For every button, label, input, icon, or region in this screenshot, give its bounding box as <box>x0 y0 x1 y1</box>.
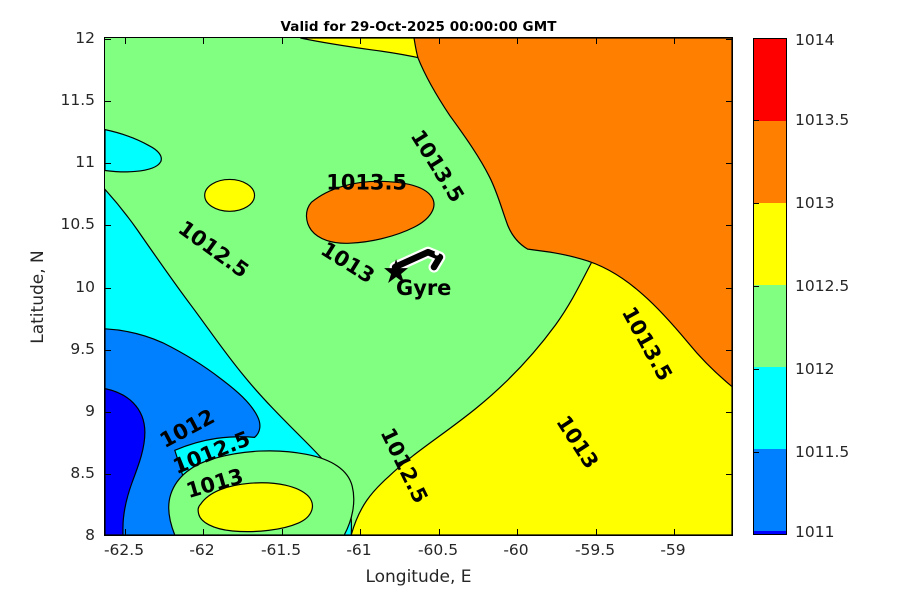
colorbar-band-1013-1013p5 <box>754 121 786 203</box>
ytick <box>105 474 111 475</box>
ytick <box>726 225 732 226</box>
xtick-label: -62 <box>189 541 214 559</box>
contour-plot-area[interactable]: 1013.5 1013.5 1013.5 1012.5 1013 1013 10… <box>104 37 733 536</box>
ytick <box>105 101 111 102</box>
ytick <box>726 163 732 164</box>
ytick-label: 11.5 <box>40 91 95 109</box>
colorbar-label: 1011 <box>795 523 834 541</box>
colorbar-tick <box>753 452 759 453</box>
ytick-label: 9 <box>40 402 95 420</box>
colorbar-label: 1012.5 <box>795 277 849 295</box>
colorbar-band-below-1011 <box>754 531 786 535</box>
ytick <box>726 288 732 289</box>
ytick <box>726 39 732 40</box>
ytick-label: 8.5 <box>40 464 95 482</box>
colorbar-label: 1011.5 <box>795 443 849 461</box>
xtick-label: -61.5 <box>261 541 301 559</box>
colorbar-band-1011-1011p5 <box>754 449 786 531</box>
xtick <box>439 529 440 535</box>
xtick-label: -59 <box>660 541 685 559</box>
xtick-label: -61 <box>346 541 371 559</box>
xtick <box>674 38 675 44</box>
ytick-label: 11 <box>40 153 95 171</box>
contour-label-1013p5-cell: 1013.5 <box>326 170 407 194</box>
colorbar-tick <box>753 120 759 121</box>
ytick <box>105 412 111 413</box>
colorbar-band-1012p5-1013 <box>754 203 786 285</box>
colorbar-band-1012-1012p5 <box>754 285 786 367</box>
ytick <box>105 163 111 164</box>
ytick <box>105 350 111 351</box>
xtick-label: -62.5 <box>104 541 144 559</box>
xtick <box>282 38 283 44</box>
colorbar-label: 1013 <box>795 194 834 212</box>
xtick <box>517 38 518 44</box>
ytick <box>726 101 732 102</box>
ytick-label: 8 <box>40 526 95 544</box>
ytick-label: 10.5 <box>40 215 95 233</box>
contour-field: 1013.5 1013.5 1013.5 1012.5 1013 1013 10… <box>105 38 732 535</box>
xtick <box>596 38 597 44</box>
storm-label: Gyre <box>396 276 451 300</box>
colorbar-label: 1014 <box>795 31 834 49</box>
xtick <box>596 529 597 535</box>
xtick <box>125 529 126 535</box>
xtick <box>439 38 440 44</box>
ytick <box>726 350 732 351</box>
region-1013-cell-nw <box>205 179 255 211</box>
xtick <box>674 529 675 535</box>
xtick <box>203 38 204 44</box>
xtick <box>203 529 204 535</box>
colorbar-band-1013p5-1014 <box>754 39 786 121</box>
colorbar-tick <box>753 203 759 204</box>
xtick <box>125 38 126 44</box>
xtick <box>282 529 283 535</box>
ytick-label: 9.5 <box>40 340 95 358</box>
figure-title: Valid for 29-Oct-2025 00:00:00 GMT <box>104 19 733 35</box>
colorbar-label: 1013.5 <box>795 111 849 129</box>
colorbar-tick <box>753 369 759 370</box>
ytick <box>105 225 111 226</box>
ytick <box>726 412 732 413</box>
ytick <box>726 474 732 475</box>
xtick-label: -60 <box>503 541 528 559</box>
xtick <box>360 529 361 535</box>
ytick <box>105 39 111 40</box>
x-axis-title: Longitude, E <box>104 567 733 587</box>
colorbar-tick <box>753 286 759 287</box>
figure-canvas: Valid for 29-Oct-2025 00:00:00 GMT <box>0 0 900 600</box>
ytick-label: 12 <box>40 29 95 47</box>
xtick-label: -59.5 <box>575 541 615 559</box>
xtick <box>517 529 518 535</box>
xtick-label: -60.5 <box>418 541 458 559</box>
colorbar-label: 1012 <box>795 360 834 378</box>
y-axis-title: Latitude, N <box>28 197 48 397</box>
xtick <box>360 38 361 44</box>
ytick-label: 10 <box>40 278 95 296</box>
colorbar-band-1011p5-1012 <box>754 367 786 449</box>
ytick <box>105 288 111 289</box>
